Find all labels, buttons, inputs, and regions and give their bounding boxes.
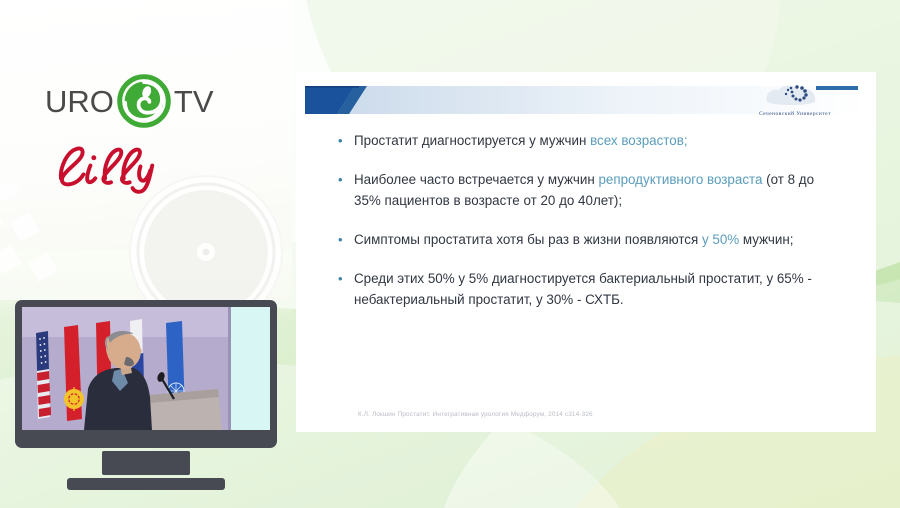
monitor-bezel bbox=[15, 300, 277, 448]
bullet-plain: мужчин; bbox=[739, 232, 793, 247]
bullet-item: •Среди этих 50% у 5% диагностируется бак… bbox=[338, 268, 843, 310]
bullet-text: Наиболее часто встречается у мужчин репр… bbox=[354, 169, 843, 211]
bullet-marker-icon: • bbox=[338, 130, 354, 151]
bullet-highlight: у 50% bbox=[702, 232, 739, 247]
urotv-suffix: TV bbox=[174, 86, 214, 117]
sechenov-university-logo: Сеченовский Университет bbox=[736, 82, 854, 126]
bullet-marker-icon: • bbox=[338, 268, 354, 310]
video-screen[interactable] bbox=[22, 307, 270, 430]
bullet-plain: Среди этих 50% у 5% диагностируется бакт… bbox=[354, 271, 812, 307]
slide-bullet-list: •Простатит диагностируется у мужчин всех… bbox=[338, 130, 843, 328]
bullet-item: •Симптомы простатита хотя бы раз в жизни… bbox=[338, 229, 843, 250]
bullet-marker-icon: • bbox=[338, 229, 354, 250]
bullet-item: •Наиболее часто встречается у мужчин реп… bbox=[338, 169, 843, 211]
bullet-plain: Наиболее часто встречается у мужчин bbox=[354, 172, 598, 187]
monitor-neck bbox=[102, 451, 190, 475]
bullet-text: Симптомы простатита хотя бы раз в жизни … bbox=[354, 229, 843, 250]
slide-citation: К.Л. Локшин Простатит. Интегративная уро… bbox=[358, 411, 593, 418]
bullet-highlight: всех возрастов; bbox=[590, 133, 687, 148]
bullet-plain: Простатит диагностируется у мужчин bbox=[354, 133, 590, 148]
urotv-swirl-icon bbox=[117, 74, 171, 128]
bullet-text: Простатит диагностируется у мужчин всех … bbox=[354, 130, 843, 151]
lilly-logo bbox=[52, 142, 170, 196]
urotv-logo: URO TV bbox=[45, 74, 214, 128]
bullet-plain: Симптомы простатита хотя бы раз в жизни … bbox=[354, 232, 702, 247]
bullet-marker-icon: • bbox=[338, 169, 354, 211]
bullet-item: •Простатит диагностируется у мужчин всех… bbox=[338, 130, 843, 151]
sechenov-emblem-icon bbox=[747, 82, 843, 110]
presentation-slide: Сеченовский Университет •Простатит диагн… bbox=[296, 72, 876, 432]
urotv-prefix: URO bbox=[45, 86, 114, 117]
monitor-foot bbox=[67, 478, 225, 490]
bullet-highlight: репродуктивного возраста bbox=[598, 172, 762, 187]
bullet-text: Среди этих 50% у 5% диагностируется бакт… bbox=[354, 268, 843, 310]
presentation-stage: URO TV bbox=[0, 0, 900, 508]
sechenov-university-name: Сеченовский Университет bbox=[736, 111, 854, 117]
video-monitor[interactable] bbox=[15, 300, 277, 490]
